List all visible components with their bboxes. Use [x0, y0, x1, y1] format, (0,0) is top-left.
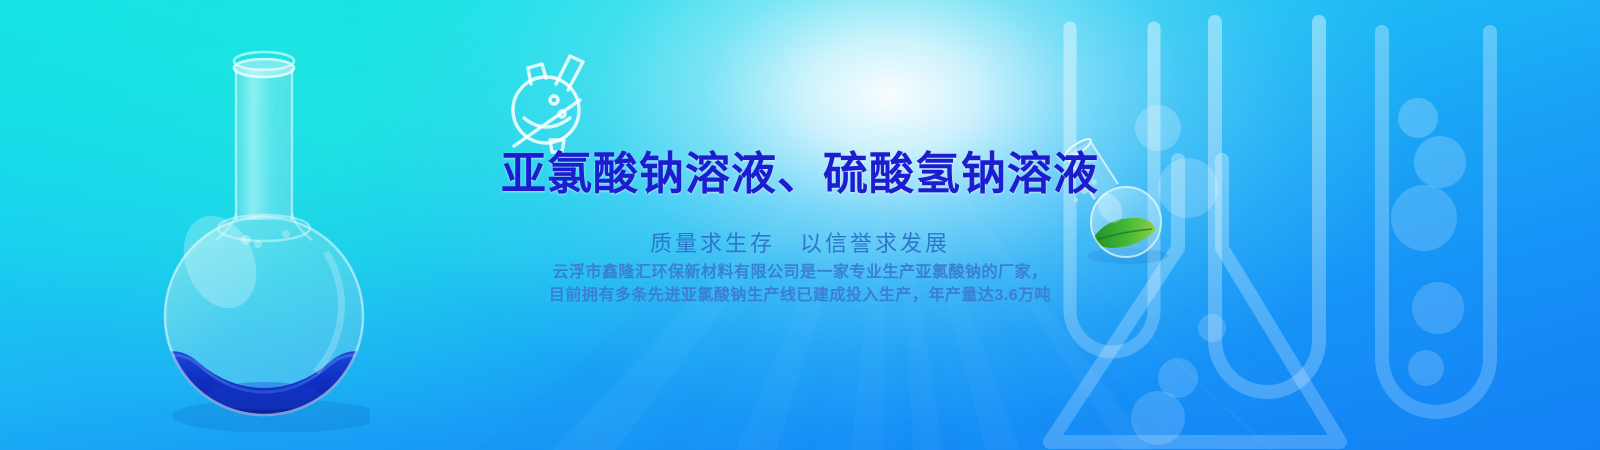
- sunburst-rays-decoration: [0, 0, 1600, 450]
- promo-banner: 亚氯酸钠溶液、硫酸氢钠溶液 质量求生存 以信誉求发展 云浮市鑫隆汇环保新材料有限…: [0, 0, 1600, 450]
